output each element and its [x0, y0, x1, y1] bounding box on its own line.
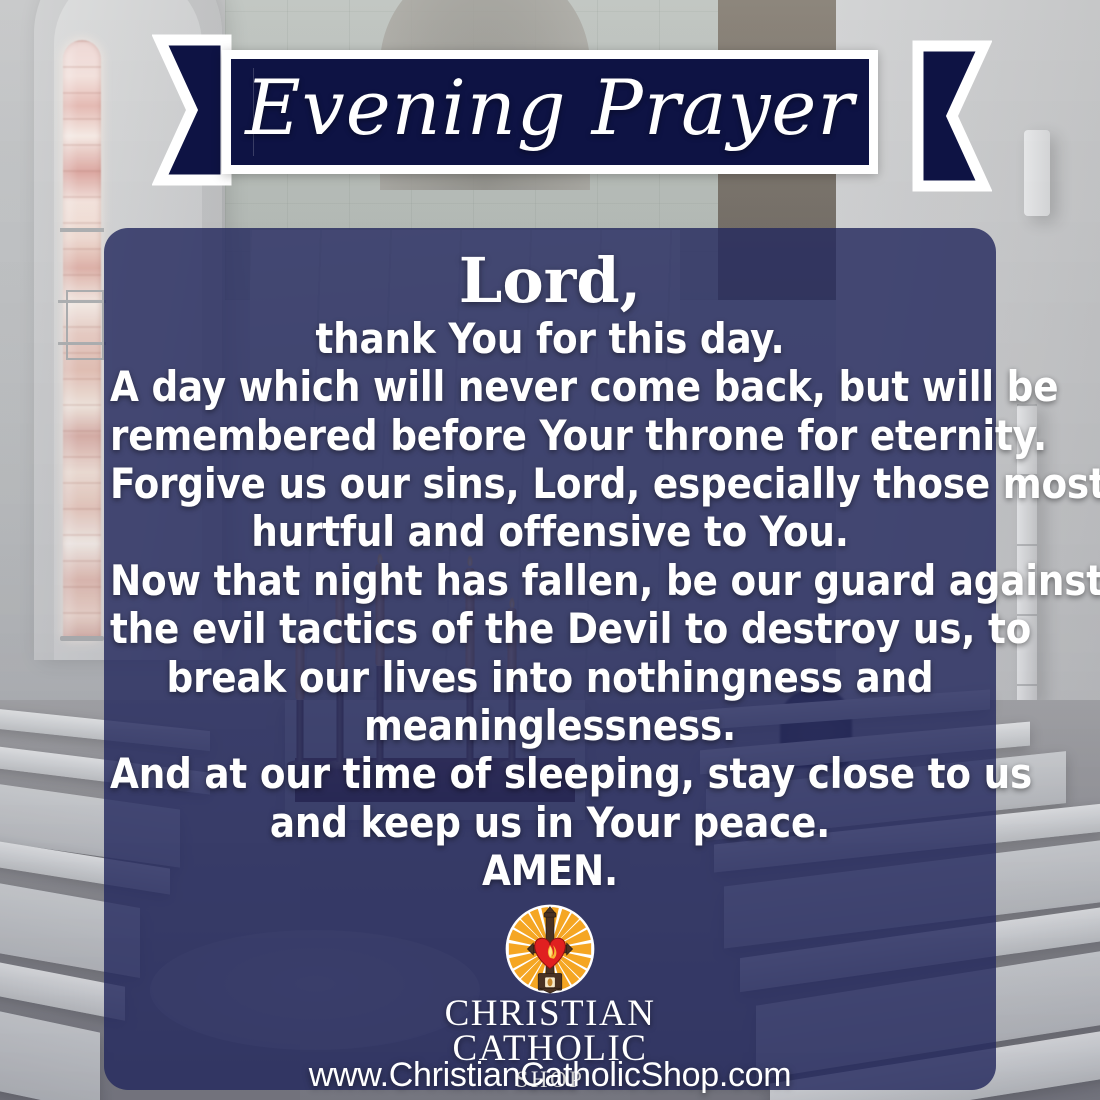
prayer-line: the evil tactics of the Devil to destroy…	[110, 605, 990, 653]
prayer-line: A day which will never come back, but wi…	[110, 363, 990, 411]
prayer-line: break our lives into nothingness and	[110, 654, 990, 702]
window-mullion	[60, 228, 104, 232]
prayer-line: meaninglessness.	[110, 702, 990, 750]
prayer-line: Forgive us our sins, Lord, especially th…	[110, 460, 990, 508]
ribbon-tail-right-icon	[876, 40, 992, 192]
prayer-line: hurtful and offensive to You.	[110, 508, 990, 556]
prayer-line: AMEN.	[110, 847, 990, 895]
window-mullion	[58, 342, 106, 345]
evening-prayer-poster: Evening Prayer Lord, thank You for this …	[0, 0, 1100, 1100]
prayer-line: remembered before Your throne for eterni…	[110, 412, 990, 460]
prayer-line: Now that night has fallen, be our guard …	[110, 557, 990, 605]
prayer-body: thank You for this day. A day which will…	[110, 315, 990, 895]
window-mullion	[58, 300, 106, 303]
prayer-line: and keep us in Your peace.	[110, 799, 990, 847]
prayer-line: thank You for this day.	[110, 315, 990, 363]
website-url[interactable]: www.ChristianCatholicShop.com	[0, 1056, 1100, 1095]
window-sill	[60, 636, 104, 641]
title-banner: Evening Prayer	[0, 0, 1100, 200]
brand-line-1: CHRISTIAN	[445, 996, 656, 1031]
banner-title-text: Evening Prayer	[231, 59, 869, 165]
flaming-heart-cross-sunburst-icon	[501, 900, 599, 998]
prayer-text-block: Lord, thank You for this day. A day whic…	[110, 242, 990, 895]
prayer-line: And at our time of sleeping, stay close …	[110, 750, 990, 798]
prayer-salutation: Lord,	[110, 248, 990, 313]
banner-plate: Evening Prayer	[222, 50, 878, 174]
